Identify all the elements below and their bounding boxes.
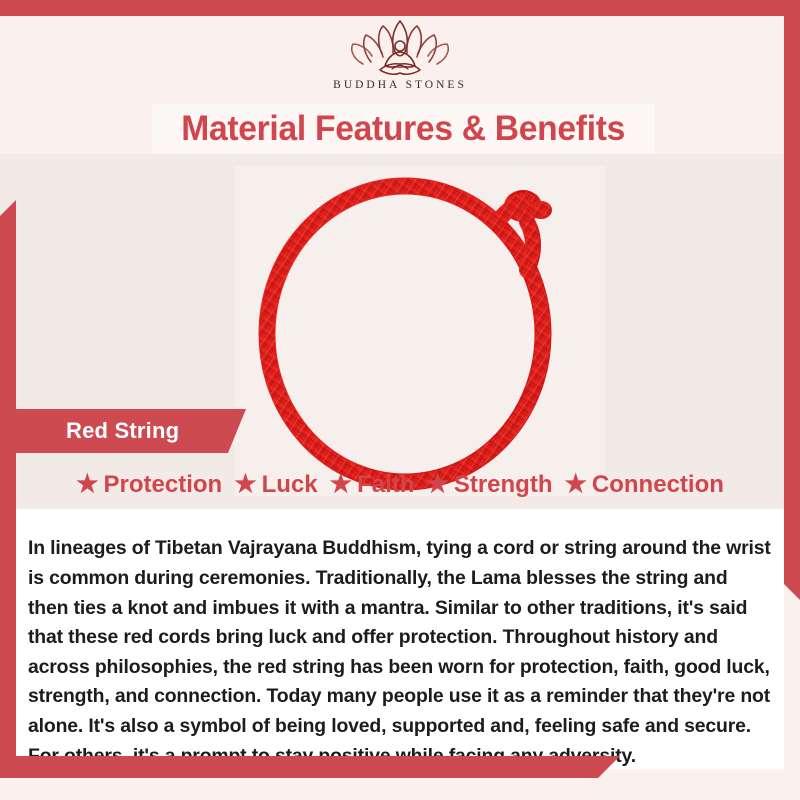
frame-top-bar bbox=[0, 0, 800, 16]
product-photo bbox=[235, 166, 605, 496]
material-name-label: Red String bbox=[66, 418, 179, 444]
benefits-row: ★ Protection ★ Luck ★ Faith ★ Strength ★… bbox=[16, 462, 784, 507]
brand-logo: BUDDHA STONES bbox=[0, 16, 800, 104]
star-icon: ★ bbox=[330, 472, 352, 497]
description-panel: In lineages of Tibetan Vajrayana Buddhis… bbox=[16, 509, 784, 769]
benefit-item-luck: ★ Luck bbox=[234, 471, 317, 499]
star-icon: ★ bbox=[76, 472, 98, 497]
benefit-label: Protection bbox=[104, 471, 223, 499]
star-icon: ★ bbox=[426, 472, 448, 497]
frame-bottom-bar bbox=[0, 756, 620, 778]
benefit-item-protection: ★ Protection bbox=[76, 471, 222, 499]
frame-right-bar bbox=[784, 0, 800, 600]
benefit-label: Luck bbox=[262, 471, 318, 499]
benefit-label: Strength bbox=[454, 471, 553, 499]
star-icon: ★ bbox=[234, 472, 256, 497]
benefit-label: Faith bbox=[357, 471, 414, 499]
description-text: In lineages of Tibetan Vajrayana Buddhis… bbox=[28, 534, 772, 771]
star-icon: ★ bbox=[564, 472, 586, 497]
lotus-meditation-icon bbox=[348, 16, 452, 78]
page-title: Material Features & Benefits bbox=[182, 109, 626, 149]
brand-name: BUDDHA STONES bbox=[333, 79, 467, 91]
benefit-item-faith: ★ Faith bbox=[330, 471, 415, 499]
benefit-item-strength: ★ Strength bbox=[426, 471, 552, 499]
benefit-item-connection: ★ Connection bbox=[564, 471, 723, 499]
infographic-page: BUDDHA STONES Material Features & Benefi… bbox=[0, 0, 800, 800]
material-name-ribbon: Red String bbox=[16, 409, 246, 453]
benefit-label: Connection bbox=[592, 471, 724, 499]
product-image-stage bbox=[0, 154, 800, 509]
title-banner: Material Features & Benefits bbox=[152, 104, 655, 154]
frame-left-bar bbox=[0, 200, 16, 760]
